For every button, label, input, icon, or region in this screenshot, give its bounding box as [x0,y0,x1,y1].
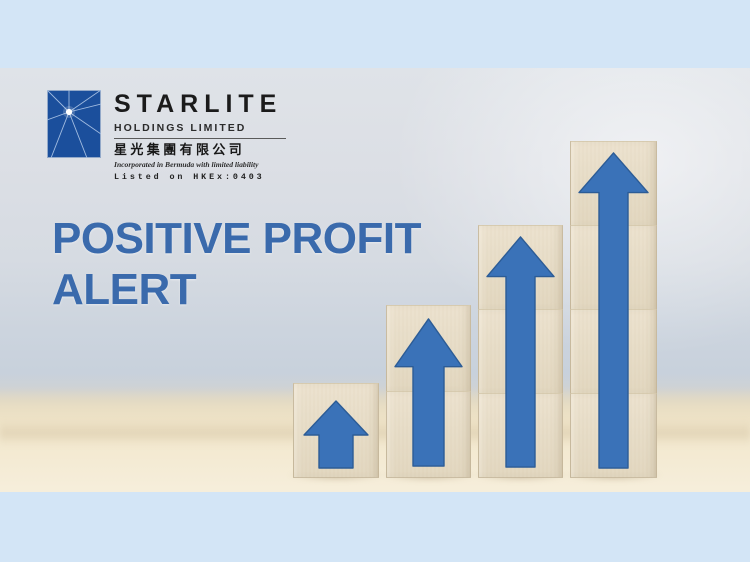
brand-name: STARLITE [114,92,286,117]
logo-divider [114,138,286,139]
wooden-block [570,141,657,226]
block-stack-1 [293,383,379,478]
headline-line-1: POSITIVE PROFIT [52,214,421,263]
wooden-block [570,309,657,394]
wooden-block [478,309,563,394]
wooden-block [570,225,657,310]
listing-note: Listed on HKEx:0403 [114,173,286,181]
block-stack-4 [570,141,657,478]
poster-canvas: STARLITE HOLDINGS LIMITED 星光集團有限公司 Incor… [0,0,750,562]
wooden-block [478,393,563,478]
company-logo: STARLITE HOLDINGS LIMITED 星光集團有限公司 Incor… [47,90,286,182]
wooden-block [570,393,657,478]
wooden-block [386,391,471,478]
letterbox-top [0,0,750,68]
block-stack-3 [478,225,563,478]
logo-text-block: STARLITE HOLDINGS LIMITED 星光集團有限公司 Incor… [114,90,286,182]
brand-subtitle: HOLDINGS LIMITED [114,123,286,134]
block-stack-2 [386,305,471,478]
starlite-starburst-icon [47,90,101,158]
incorporation-note: Incorporated in Bermuda with limited lia… [114,161,286,169]
headline-line-2: ALERT [52,264,472,315]
wooden-block [386,305,471,392]
letterbox-bottom [0,492,750,562]
brand-name-chinese: 星光集團有限公司 [114,144,286,157]
wooden-block [293,383,379,478]
wooden-block [478,225,563,310]
page-title: POSITIVE PROFIT ALERT [52,213,472,315]
